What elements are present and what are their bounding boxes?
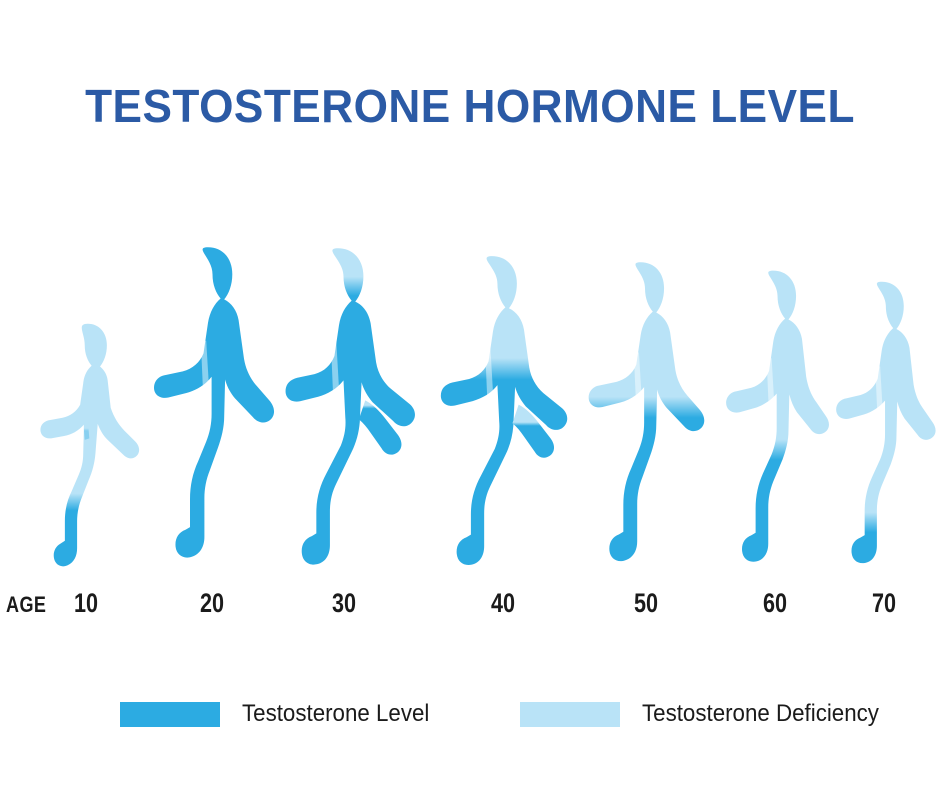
- age-tick-10: 10: [62, 588, 110, 619]
- legend: Testosterone Level Testosterone Deficien…: [0, 700, 940, 740]
- human-silhouette-age-50-icon: [580, 255, 710, 585]
- figure-age-60: [716, 263, 834, 585]
- age-tick-50: 50: [622, 588, 670, 619]
- figure-age-10: [28, 310, 143, 585]
- figure-age-20: [145, 237, 280, 585]
- figure-age-40: [432, 249, 577, 585]
- age-axis-label: AGE: [6, 592, 46, 618]
- legend-swatch-deficiency-icon: [520, 702, 620, 727]
- age-tick-40: 40: [479, 588, 527, 619]
- figure-age-70: [828, 275, 938, 585]
- age-tick-70: 70: [860, 588, 908, 619]
- page-title: TESTOSTERONE HORMONE LEVEL: [19, 80, 921, 132]
- legend-item-testosterone-level: Testosterone Level: [120, 700, 443, 728]
- human-silhouette-age-10-icon: [28, 310, 143, 585]
- human-silhouette-age-60-icon: [716, 263, 834, 585]
- figure-age-30: [278, 241, 428, 585]
- human-silhouette-age-70-icon: [828, 275, 938, 585]
- human-silhouette-age-40-icon: [432, 249, 577, 585]
- age-axis: AGE 10 20 30 40 50 60 70: [0, 588, 940, 624]
- legend-item-testosterone-deficiency: Testosterone Deficiency: [520, 700, 897, 728]
- infographic-root: TESTOSTERONE HORMONE LEVEL: [0, 0, 940, 788]
- legend-swatch-level-icon: [120, 702, 220, 727]
- figure-age-50: [580, 255, 710, 585]
- figure-row: [0, 215, 940, 585]
- human-silhouette-age-20-icon: [145, 237, 280, 585]
- legend-label-level: Testosterone Level: [242, 700, 429, 728]
- age-tick-20: 20: [188, 588, 236, 619]
- legend-label-deficiency: Testosterone Deficiency: [642, 700, 879, 728]
- age-tick-60: 60: [751, 588, 799, 619]
- human-silhouette-age-30-icon: [278, 241, 428, 585]
- age-tick-30: 30: [320, 588, 368, 619]
